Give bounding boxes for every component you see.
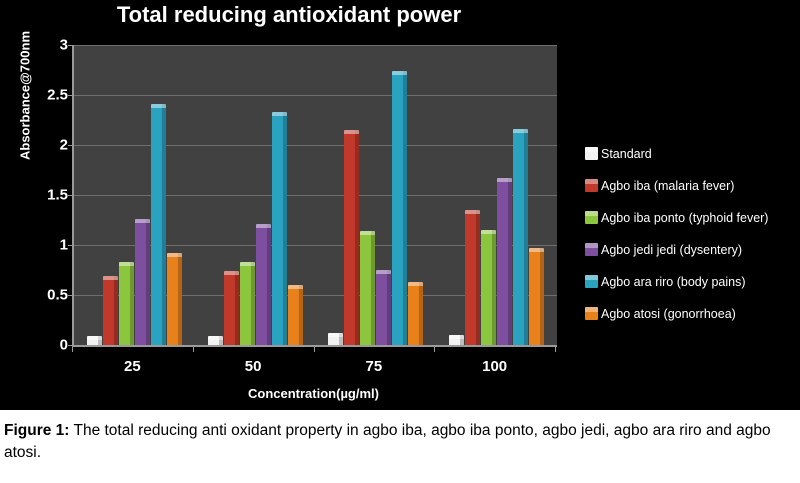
chart-figure: Total reducing antioxidant power Absorba… — [0, 0, 800, 410]
y-tick-label: 0.5 — [28, 287, 68, 304]
bar — [224, 271, 239, 345]
bar — [465, 210, 480, 345]
bar — [344, 130, 359, 345]
caption-label: Figure 1: — [4, 422, 69, 439]
bar — [376, 270, 391, 345]
x-tick-label: 50 — [208, 358, 298, 375]
legend-item: Agbo iba (malaria fever) — [585, 177, 800, 194]
x-tick-label: 75 — [329, 358, 419, 375]
legend-label: Agbo ara riro (body pains) — [601, 275, 746, 289]
bar — [87, 336, 102, 345]
bar — [529, 248, 544, 345]
bar — [497, 178, 512, 345]
bar — [103, 276, 118, 345]
bar-group — [195, 45, 316, 345]
plot-area: 00.511.522.53 — [72, 45, 557, 347]
bar-group — [74, 45, 195, 345]
bar — [408, 282, 423, 345]
y-tick-mark — [68, 345, 74, 346]
chart-legend: StandardAgbo iba (malaria fever)Agbo iba… — [585, 145, 800, 337]
bar — [256, 224, 271, 345]
bar — [167, 253, 182, 345]
x-tick-mark — [434, 347, 435, 352]
x-tick-mark — [72, 347, 73, 352]
bar — [513, 129, 528, 345]
bar — [360, 231, 375, 345]
bar — [328, 333, 343, 345]
legend-item: Agbo iba ponto (typhoid fever) — [585, 209, 800, 226]
legend-swatch — [585, 179, 598, 192]
y-tick-label: 2 — [28, 137, 68, 154]
caption-text: The total reducing anti oxidant property… — [4, 422, 771, 461]
legend-label: Agbo iba (malaria fever) — [601, 179, 734, 193]
legend-swatch — [585, 275, 598, 288]
figure-page: Total reducing antioxidant power Absorba… — [0, 0, 800, 483]
x-tick-mark — [193, 347, 194, 352]
x-tick-mark — [314, 347, 315, 352]
legend-item: Agbo atosi (gonorrhoea) — [585, 305, 800, 322]
y-tick-label: 2.5 — [28, 87, 68, 104]
bar-group — [316, 45, 437, 345]
chart-title: Total reducing antioxidant power — [0, 2, 578, 28]
bar — [151, 104, 166, 345]
legend-item: Standard — [585, 145, 800, 162]
bar-group — [436, 45, 557, 345]
bar — [208, 336, 223, 345]
bar — [272, 112, 287, 345]
y-tick-label: 3 — [28, 37, 68, 54]
y-tick-label: 1 — [28, 237, 68, 254]
legend-item: Agbo jedi jedi (dysentery) — [585, 241, 800, 258]
bar — [240, 262, 255, 345]
x-tick-mark — [555, 347, 556, 352]
legend-label: Agbo iba ponto (typhoid fever) — [601, 211, 768, 225]
legend-item: Agbo ara riro (body pains) — [585, 273, 800, 290]
bar — [392, 71, 407, 345]
figure-caption: Figure 1: The total reducing anti oxidan… — [0, 418, 800, 464]
legend-swatch — [585, 147, 598, 160]
x-axis-title: Concentration(µg/ml) — [72, 386, 555, 401]
legend-swatch — [585, 307, 598, 320]
bar — [288, 285, 303, 345]
legend-swatch — [585, 211, 598, 224]
legend-label: Agbo jedi jedi (dysentery) — [601, 243, 742, 257]
legend-label: Agbo atosi (gonorrhoea) — [601, 307, 736, 321]
x-tick-label: 100 — [450, 358, 540, 375]
legend-swatch — [585, 243, 598, 256]
bar — [481, 230, 496, 345]
legend-label: Standard — [601, 147, 652, 161]
x-tick-label: 25 — [87, 358, 177, 375]
y-tick-label: 0 — [28, 337, 68, 354]
bar — [135, 219, 150, 345]
bar — [449, 335, 464, 345]
bar — [119, 262, 134, 345]
y-tick-label: 1.5 — [28, 187, 68, 204]
